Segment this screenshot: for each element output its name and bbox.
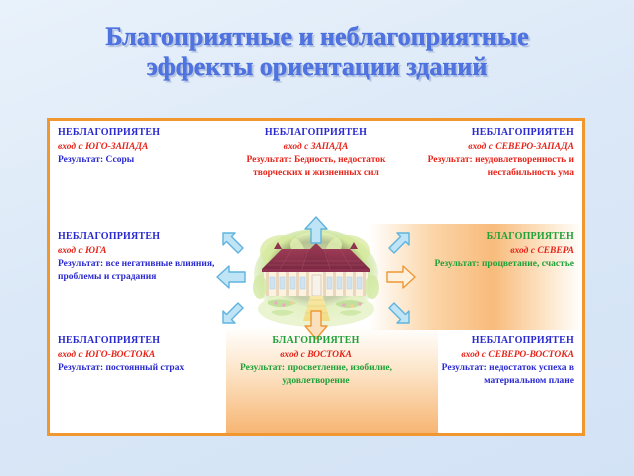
cell-north-verdict: БЛАГОПРИЯТЕН <box>413 231 574 244</box>
cell-southeast-direction: вход с ЮГО-ВОСТОКА <box>58 349 219 362</box>
cell-east-verdict: БЛАГОПРИЯТЕН <box>235 335 396 348</box>
page-title: Благоприятные и неблагоприятные эффекты … <box>0 22 634 82</box>
centre-illustration-cell <box>227 225 404 329</box>
cell-west: НЕБЛАГОПРИЯТЕН вход с ЗАПАДА Результат: … <box>227 121 404 225</box>
house-picture-wrapper <box>227 225 404 329</box>
cell-northeast-direction: вход с СЕВЕРО-ВОСТОКА <box>413 349 574 362</box>
cell-southwest-result: Результат: Ссоры <box>58 154 219 167</box>
cell-south: НЕБЛАГОПРИЯТЕН вход с ЮГА Результат: все… <box>50 225 227 329</box>
cell-east-direction: вход с ВОСТОКА <box>235 349 396 362</box>
cell-east: БЛАГОПРИЯТЕН вход с ВОСТОКА Результат: п… <box>227 329 404 433</box>
cell-south-verdict: НЕБЛАГОПРИЯТЕН <box>58 231 219 244</box>
cell-north-direction: вход с СЕВЕРА <box>413 245 574 258</box>
cell-northwest: НЕБЛАГОПРИЯТЕН вход с СЕВЕРО-ЗАПАДА Резу… <box>405 121 582 225</box>
cell-north: БЛАГОПРИЯТЕН вход с СЕВЕРА Результат: пр… <box>405 225 582 329</box>
cell-south-result: Результат: все негативные влияния, пробл… <box>58 258 219 283</box>
cell-southeast: НЕБЛАГОПРИЯТЕН вход с ЮГО-ВОСТОКА Резуль… <box>50 329 227 433</box>
cell-southeast-result: Результат: постоянный страх <box>58 362 219 375</box>
arrow-down-left-icon <box>219 297 249 327</box>
page-title-line-2: эффекты ориентации зданий <box>0 52 634 82</box>
cell-south-direction: вход с ЮГА <box>58 245 219 258</box>
orientation-grid: НЕБЛАГОПРИЯТЕН вход с ЮГО-ЗАПАДА Результ… <box>50 121 582 433</box>
cell-southwest-direction: вход с ЮГО-ЗАПАДА <box>58 141 219 154</box>
arrow-up-left-icon <box>219 229 249 259</box>
cell-west-verdict: НЕБЛАГОПРИЯТЕН <box>235 127 396 140</box>
cell-southeast-verdict: НЕБЛАГОПРИЯТЕН <box>58 335 219 348</box>
cell-southwest-verdict: НЕБЛАГОПРИЯТЕН <box>58 127 219 140</box>
cell-north-result: Результат: процветание, счастье <box>413 258 574 271</box>
cell-northwest-direction: вход с СЕВЕРО-ЗАПАДА <box>413 141 574 154</box>
arrow-left-icon <box>215 264 247 290</box>
cell-southwest: НЕБЛАГОПРИЯТЕН вход с ЮГО-ЗАПАДА Результ… <box>50 121 227 225</box>
cell-west-direction: вход с ЗАПАДА <box>235 141 396 154</box>
arrow-up-icon <box>303 215 329 245</box>
cell-northwest-result: Результат: неудовлетворенность и нестаби… <box>413 154 574 179</box>
orientation-board: НЕБЛАГОПРИЯТЕН вход с ЮГО-ЗАПАДА Результ… <box>47 118 585 436</box>
cell-northeast: НЕБЛАГОПРИЯТЕН вход с СЕВЕРО-ВОСТОКА Рез… <box>405 329 582 433</box>
cell-northeast-result: Результат: недостаток успеха в материаль… <box>413 362 574 387</box>
cell-east-result: Результат: просветление, изобилие, удовл… <box>235 362 396 387</box>
page-title-line-1: Благоприятные и неблагоприятные <box>0 22 634 52</box>
cell-west-result: Результат: Бедность, недостаток творческ… <box>235 154 396 179</box>
cell-northwest-verdict: НЕБЛАГОПРИЯТЕН <box>413 127 574 140</box>
slide-canvas: Благоприятные и неблагоприятные эффекты … <box>0 0 634 476</box>
cell-northeast-verdict: НЕБЛАГОПРИЯТЕН <box>413 335 574 348</box>
